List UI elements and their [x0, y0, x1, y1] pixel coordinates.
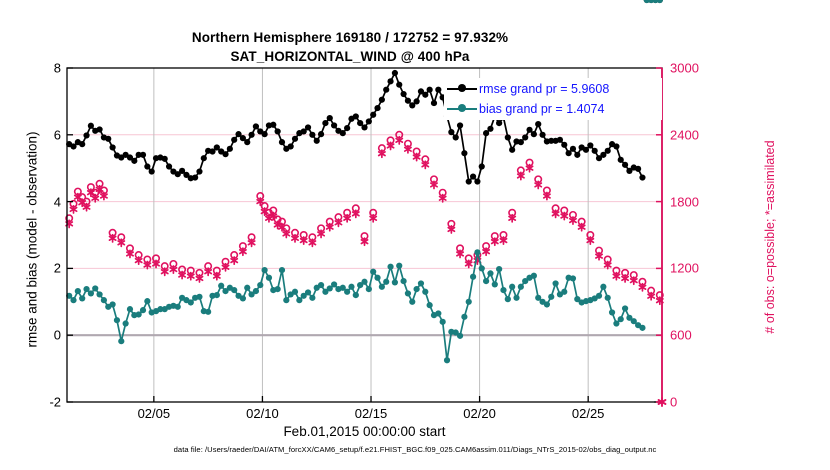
y-tick-label-left: 4	[31, 194, 61, 209]
y-tick-label-left: 2	[31, 261, 61, 276]
legend-marker-bias	[445, 99, 479, 119]
legend-label-bias: bias grand pr = 1.4074	[479, 99, 604, 119]
y-tick-label-right: 600	[670, 328, 710, 343]
legend-label-rmse: rmse grand pr = 5.9608	[479, 79, 609, 99]
x-tick-label: 02/15	[341, 406, 401, 421]
y-tick-label-right: 0	[670, 395, 710, 410]
y-tick-label-right: 2400	[670, 127, 710, 142]
legend-item-rmse: rmse grand pr = 5.9608	[445, 79, 661, 99]
legend-marker-rmse	[445, 79, 479, 99]
x-tick-label: 02/10	[232, 406, 292, 421]
chart-figure: Northern Hemisphere 169180 / 172752 = 97…	[0, 0, 830, 470]
y-tick-label-right: 1200	[670, 261, 710, 276]
chart-legend: rmse grand pr = 5.9608 bias grand pr = 1…	[444, 78, 662, 120]
x-tick-label: 02/25	[558, 406, 618, 421]
y-tick-label-left: 0	[31, 328, 61, 343]
y-tick-label-left: 8	[31, 61, 61, 76]
x-tick-label: 02/05	[124, 406, 184, 421]
x-tick-label: 02/20	[450, 406, 510, 421]
y-tick-label-left: -2	[31, 395, 61, 410]
legend-item-bias: bias grand pr = 1.4074	[445, 99, 661, 119]
y-tick-label-right: 1800	[670, 194, 710, 209]
y-tick-label-right: 3000	[670, 61, 710, 76]
y-tick-label-left: 6	[31, 127, 61, 142]
